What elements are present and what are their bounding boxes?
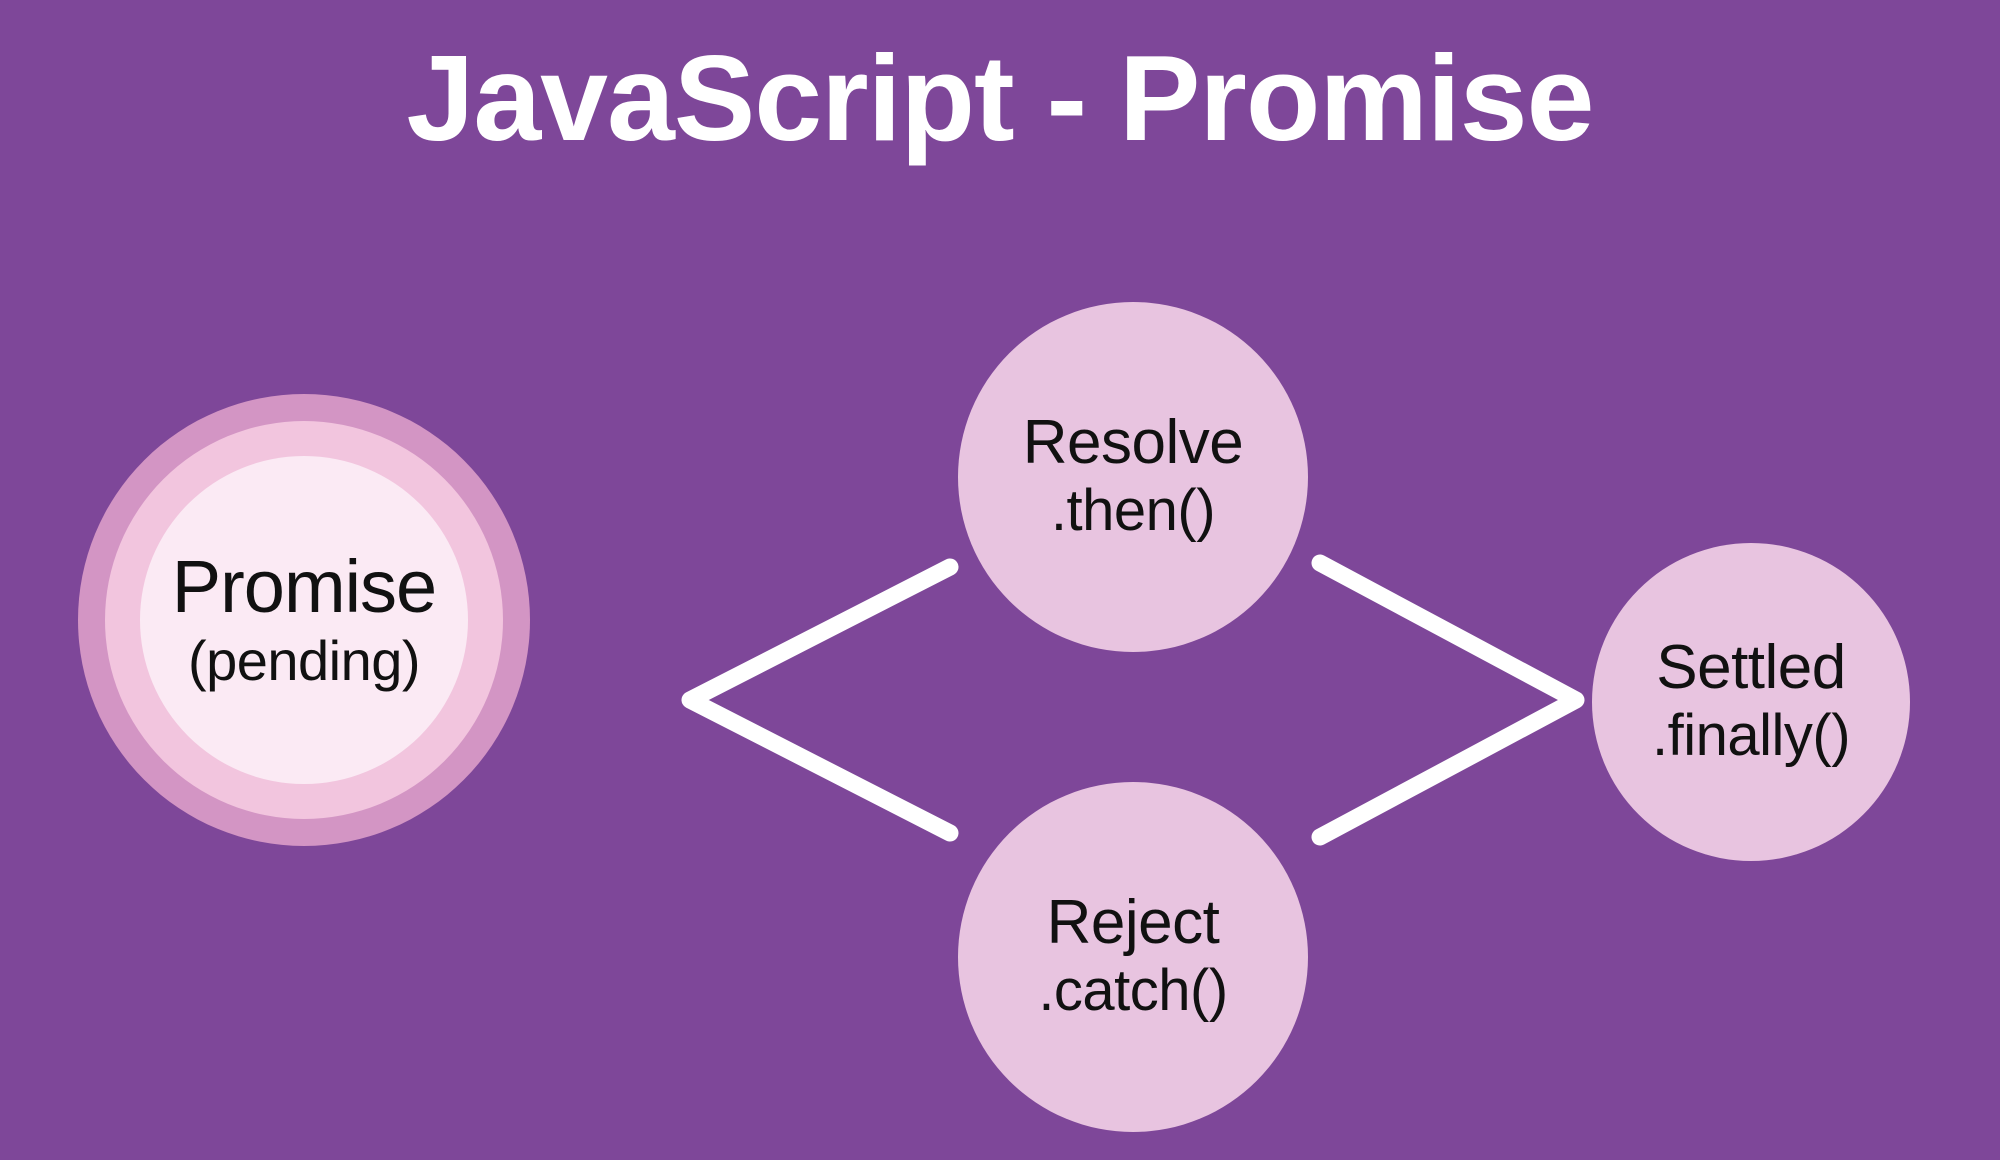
promise-state-label: (pending) (188, 632, 420, 691)
page-title: JavaScript - Promise (0, 34, 2000, 162)
node-promise[interactable]: Promise (pending) (78, 394, 530, 846)
node-resolve[interactable]: Resolve .then() (958, 302, 1308, 652)
settled-method-label: .finally() (1652, 705, 1850, 768)
resolve-method-label: .then() (1051, 480, 1215, 543)
diagram-canvas: JavaScript - Promise Promise (pending) R… (0, 0, 2000, 1160)
promise-ring-inner: Promise (pending) (140, 456, 468, 784)
promise-ring-middle: Promise (pending) (105, 421, 503, 819)
node-settled[interactable]: Settled .finally() (1592, 543, 1910, 861)
resolve-label: Resolve (1023, 412, 1244, 474)
node-reject[interactable]: Reject .catch() (958, 782, 1308, 1132)
settled-label: Settled (1656, 637, 1846, 699)
edge-branches-to-settled (1320, 563, 1576, 837)
reject-label: Reject (1047, 892, 1220, 954)
reject-method-label: .catch() (1038, 960, 1227, 1023)
edge-promise-to-branches (690, 567, 950, 833)
promise-label: Promise (172, 550, 436, 624)
